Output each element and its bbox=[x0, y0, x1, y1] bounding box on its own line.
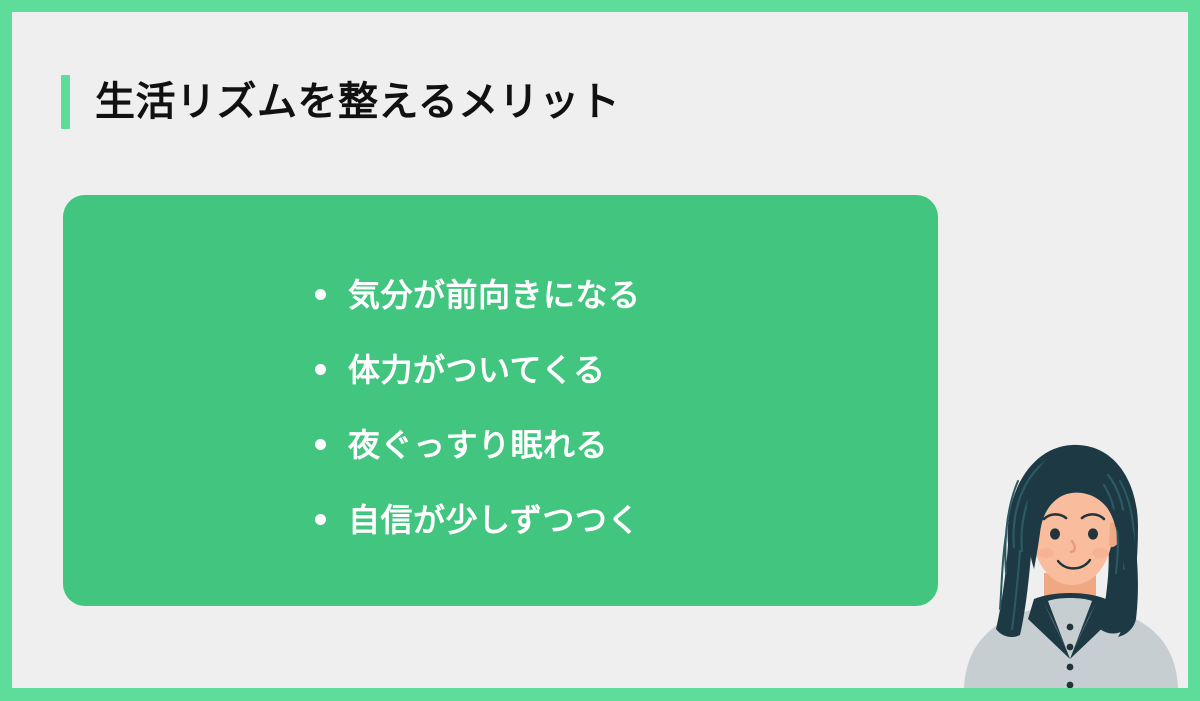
list-item-label: 自信が少しずつつく bbox=[348, 504, 640, 536]
bullet-dot-icon bbox=[315, 514, 326, 525]
bullet-dot-icon bbox=[315, 439, 326, 450]
list-item: 夜ぐっすり眠れる bbox=[315, 407, 641, 482]
list-item-label: 気分が前向きになる bbox=[348, 279, 641, 311]
slide-frame: 生活リズムを整えるメリット 気分が前向きになる 体力がついてくる 夜ぐっすり眠れ… bbox=[0, 0, 1200, 701]
slide-canvas: 生活リズムを整えるメリット 気分が前向きになる 体力がついてくる 夜ぐっすり眠れ… bbox=[12, 12, 1188, 688]
page-title: 生活リズムを整えるメリット bbox=[61, 74, 620, 130]
bullet-dot-icon bbox=[315, 364, 326, 375]
list-item-label: 夜ぐっすり眠れる bbox=[348, 429, 608, 461]
title-text: 生活リズムを整えるメリット bbox=[95, 82, 620, 122]
illustration-svg bbox=[948, 423, 1188, 688]
title-accent-bar bbox=[61, 75, 70, 129]
benefits-card: 気分が前向きになる 体力がついてくる 夜ぐっすり眠れる 自信が少しずつつく bbox=[63, 195, 938, 606]
list-item: 自信が少しずつつく bbox=[315, 482, 641, 557]
list-item-label: 体力がついてくる bbox=[348, 354, 605, 386]
smiling-woman-illustration bbox=[948, 423, 1188, 688]
benefits-list: 気分が前向きになる 体力がついてくる 夜ぐっすり眠れる 自信が少しずつつく bbox=[315, 257, 641, 557]
bullet-dot-icon bbox=[315, 289, 326, 300]
list-item: 気分が前向きになる bbox=[315, 257, 641, 332]
list-item: 体力がついてくる bbox=[315, 332, 641, 407]
